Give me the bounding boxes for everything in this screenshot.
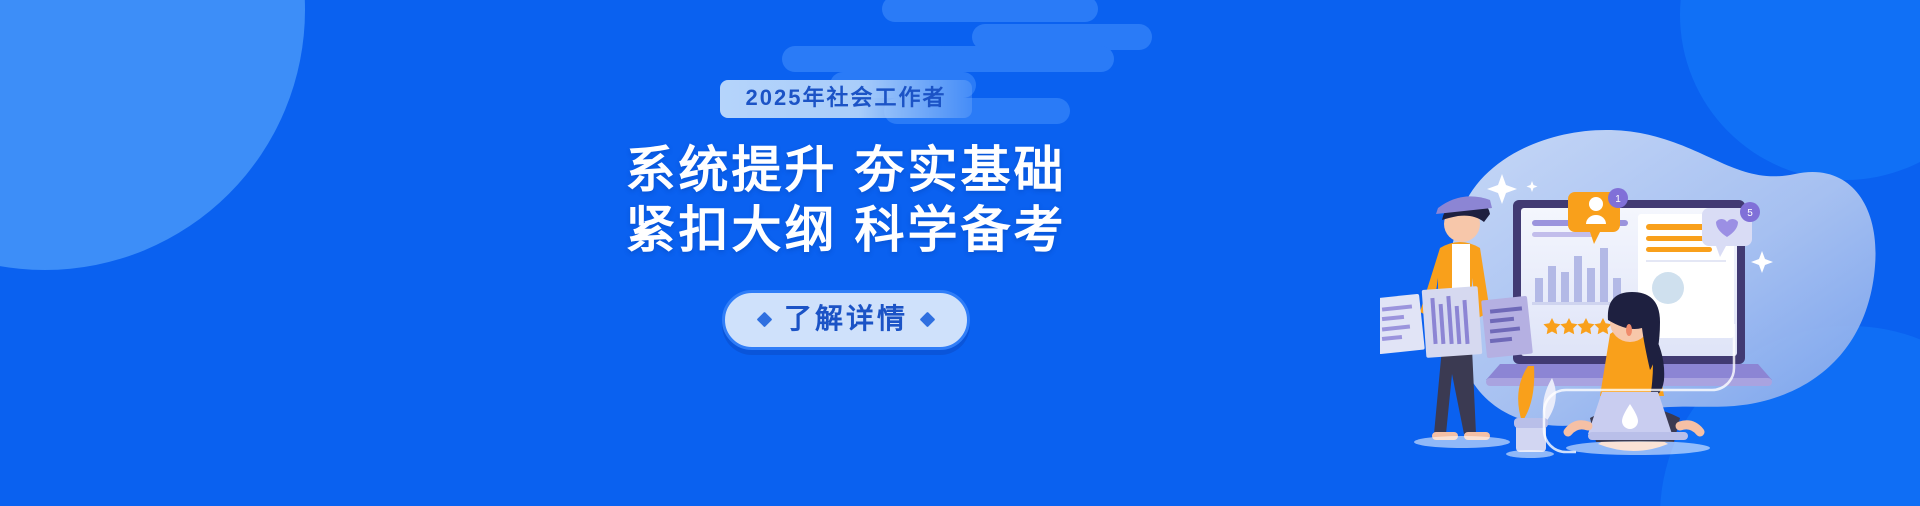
headline: 系统提升 夯实基础 紧扣大纲 科学备考 [626, 140, 1067, 260]
headline-line-2: 紧扣大纲 科学备考 [626, 200, 1067, 260]
document-panel-back [1481, 296, 1533, 358]
document-panel-front [1422, 286, 1483, 358]
learn-more-button[interactable]: 了解详情 [722, 290, 970, 350]
notification-user-count: 1 [1615, 194, 1621, 205]
document-panel-left [1380, 294, 1425, 355]
eyebrow-badge: 2025年社会工作者 [720, 80, 973, 118]
learn-more-label: 了解详情 [784, 305, 908, 333]
banner-copy: 2025年社会工作者 系统提升 夯实基础 紧扣大纲 科学备考 了解详情 [566, 80, 1126, 350]
notification-like-count: 5 [1747, 208, 1753, 219]
online-learning-illustration: 1 5 [1380, 96, 1920, 506]
diamond-left-icon [757, 311, 773, 327]
diamond-right-icon [920, 311, 936, 327]
promo-banner: 2025年社会工作者 系统提升 夯实基础 紧扣大纲 科学备考 了解详情 [0, 0, 1920, 506]
headline-line-1: 系统提升 夯实基础 [626, 140, 1067, 200]
top-left-circle-decoration [0, 0, 305, 270]
